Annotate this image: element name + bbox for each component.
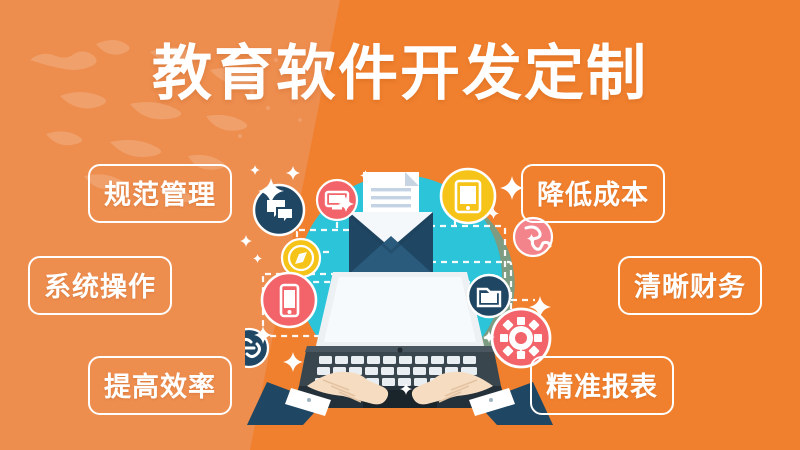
tag-xitong-caozuo[interactable]: 系统操作 <box>28 256 172 315</box>
tag-qingxi-caiwu[interactable]: 清晰财务 <box>618 256 762 315</box>
tag-jingzhun-baobiao[interactable]: 精准报表 <box>530 356 674 415</box>
page-title: 教育软件开发定制 <box>0 41 800 107</box>
tag-tigao-xiaolv[interactable]: 提高效率 <box>88 356 232 415</box>
tag-guifan-guanli[interactable]: 规范管理 <box>88 164 232 223</box>
banner-root: 教育软件开发定制 <box>0 0 800 450</box>
folder-icon <box>468 275 510 317</box>
monitor-icon <box>317 180 357 220</box>
compass-icon <box>282 239 320 277</box>
phone-handset-icon <box>514 218 552 256</box>
smartphone-icon <box>262 273 316 327</box>
tablet-icon <box>441 169 495 223</box>
chat-icon <box>254 185 304 235</box>
central-illustration <box>245 150 555 425</box>
tag-jiangdi-chengben[interactable]: 降低成本 <box>521 164 665 223</box>
link-icon <box>245 329 268 367</box>
